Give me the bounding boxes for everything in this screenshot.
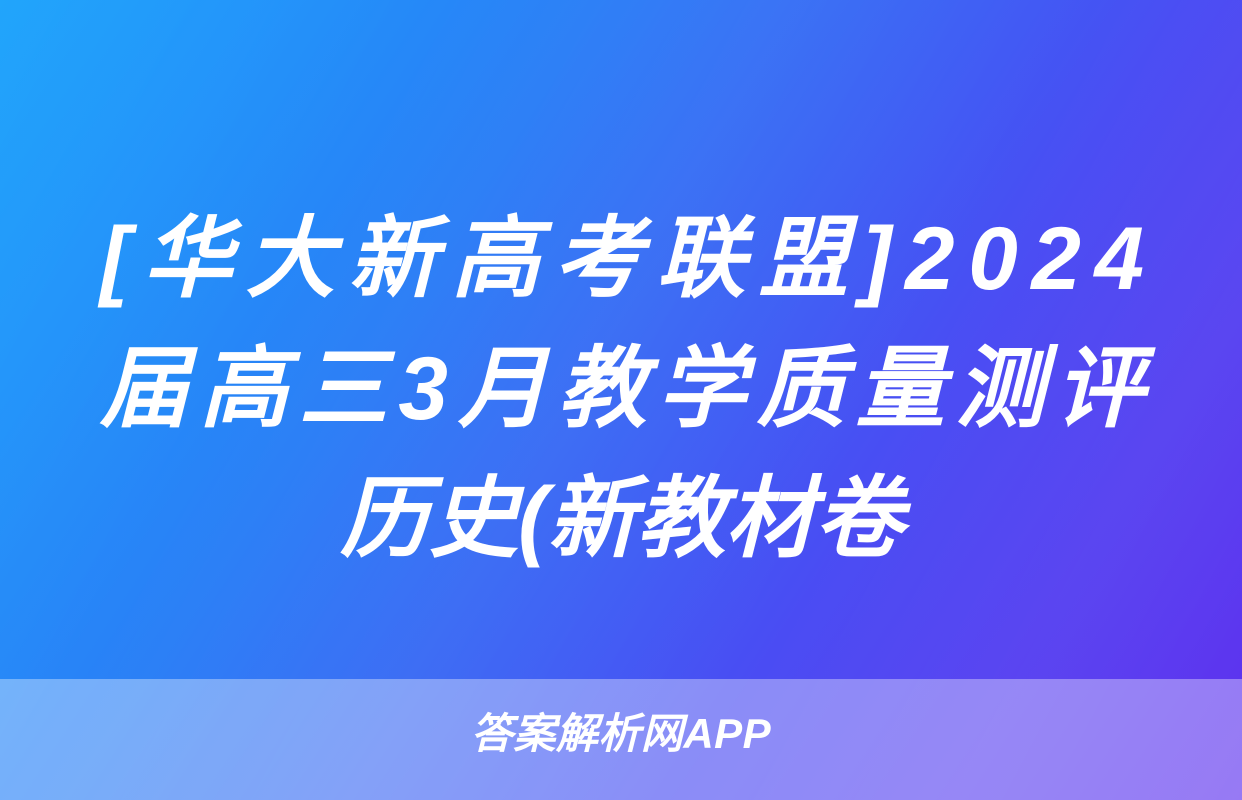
- title-line-2-char: 月: [458, 323, 547, 453]
- title-line-2-char: 测: [955, 323, 1044, 453]
- title-line-1-char: 2: [1031, 193, 1081, 323]
- title-line-1-char: ]: [862, 193, 892, 323]
- title-line-1-char: 联: [656, 193, 745, 323]
- title-line-1-char: 大: [246, 193, 335, 323]
- title-line-1-char: 盟: [759, 193, 848, 323]
- title-line-2-char: 届: [100, 323, 189, 453]
- title-line-1-char: 4: [1094, 193, 1144, 323]
- title-line-1-char: 0: [968, 193, 1018, 323]
- title-line-2-char: 高: [199, 323, 288, 453]
- title-line-2-char: 量: [856, 323, 945, 453]
- title-line-1-char: 2: [905, 193, 955, 323]
- title-line-2-char: 教: [558, 323, 647, 453]
- exam-title-block: [ 华 大 新 高 考 联 盟 ] 2 0 2 4 届 高 三 3 月 教 学 …: [100, 193, 1144, 583]
- title-line-2-char: 三: [299, 323, 388, 453]
- title-line-2-char: 评: [1055, 323, 1144, 453]
- title-line-2-char: 质: [757, 323, 846, 453]
- title-line-1: [ 华 大 新 高 考 联 盟 ] 2 0 2 4: [100, 193, 1144, 323]
- title-line-2: 届 高 三 3 月 教 学 质 量 测 评: [100, 323, 1144, 453]
- title-line-2-char: 学: [657, 323, 746, 453]
- title-line-1-char: 考: [554, 193, 643, 323]
- title-line-3: 历史(新教材卷: [100, 453, 1144, 583]
- title-line-1-char: 新: [349, 193, 438, 323]
- footer-brand-label: 答案解析网APP: [0, 706, 1242, 762]
- title-line-1-char: 华: [143, 193, 232, 323]
- title-line-1-char: 高: [451, 193, 540, 323]
- title-line-1-char: [: [100, 193, 130, 323]
- title-line-2-char: 3: [398, 323, 448, 453]
- exam-cover-card: [ 华 大 新 高 考 联 盟 ] 2 0 2 4 届 高 三 3 月 教 学 …: [0, 0, 1242, 800]
